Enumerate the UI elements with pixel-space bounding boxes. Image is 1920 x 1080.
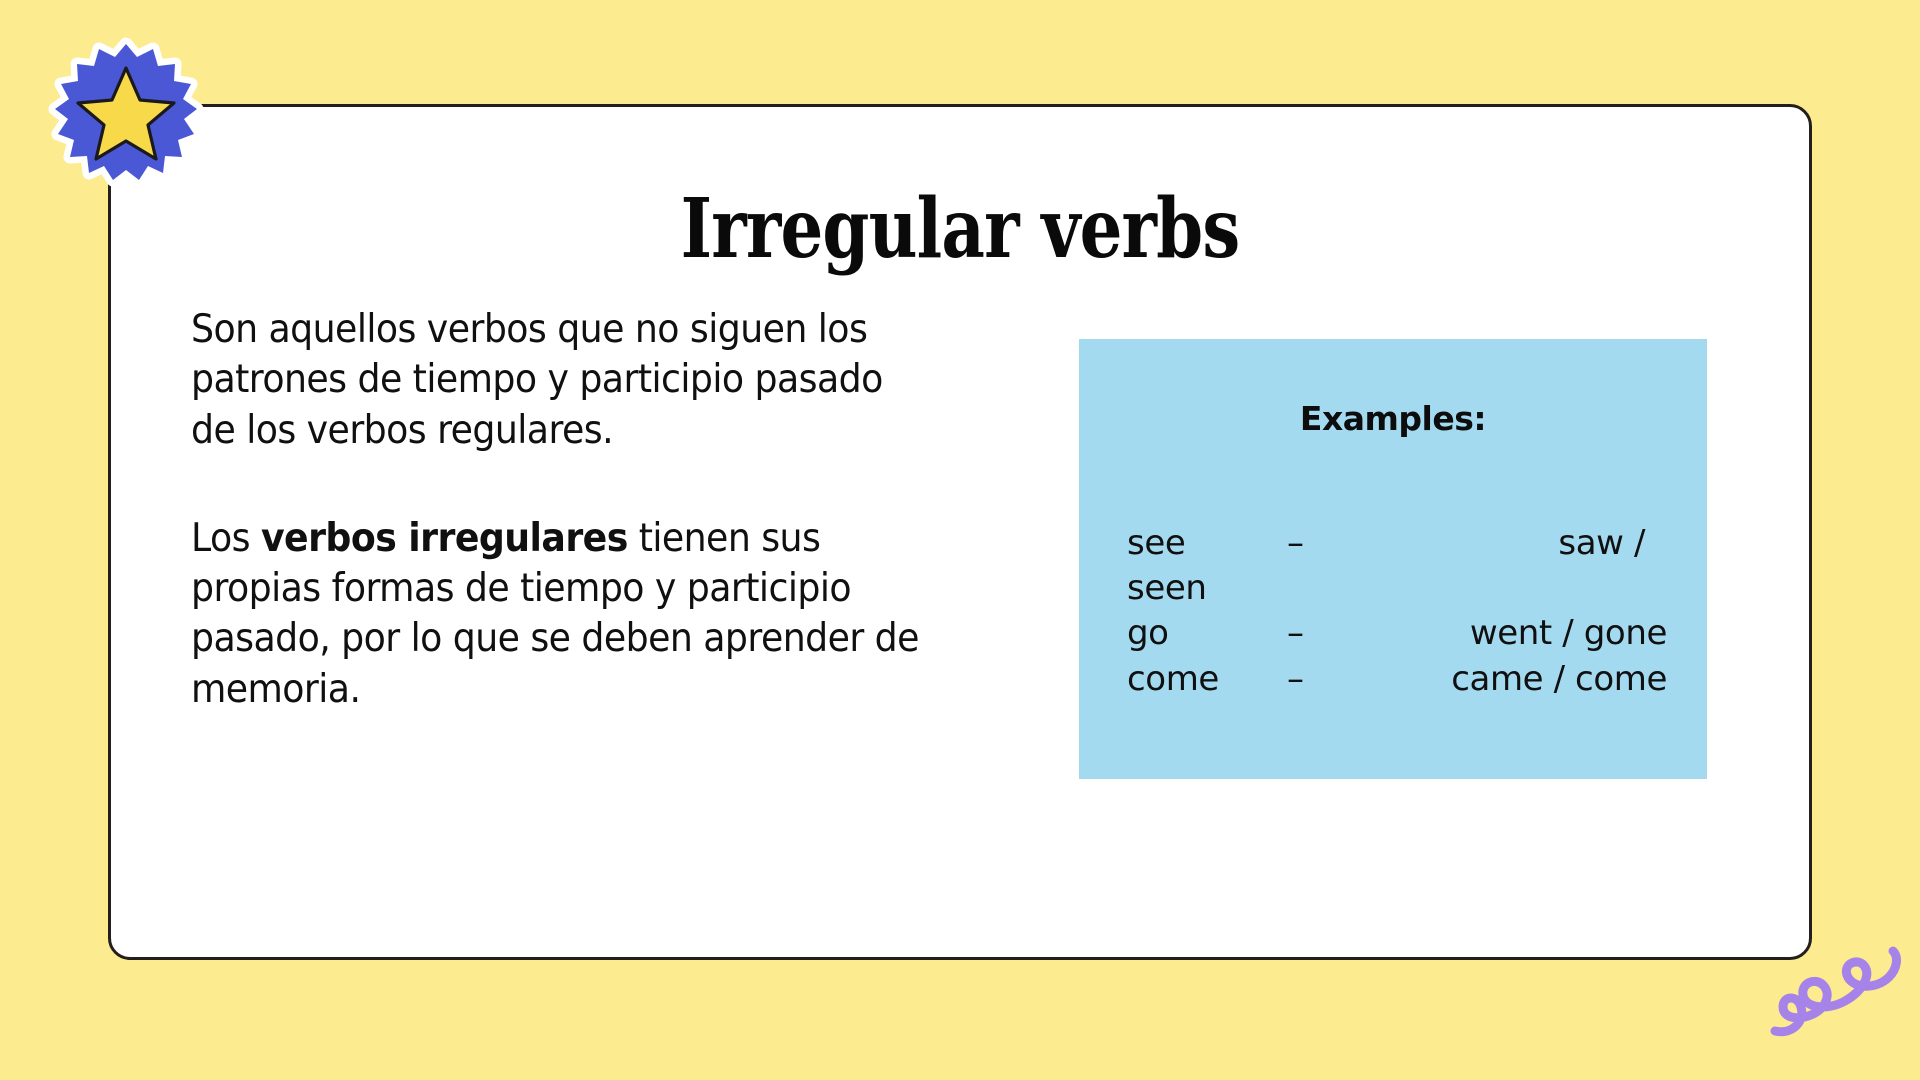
examples-verb-list: see – saw / seen go – went / gone come –… bbox=[1127, 521, 1667, 702]
body-text-column: Son aquellos verbos que no siguen los pa… bbox=[191, 305, 981, 715]
slide-card: Irregular verbs Son aquellos verbos que … bbox=[108, 104, 1812, 960]
emphasis-verbos-irregulares: verbos irregulares bbox=[261, 516, 628, 561]
paragraph-lead-text: Los bbox=[191, 516, 261, 561]
paragraph-definition: Son aquellos verbos que no siguen los pa… bbox=[191, 305, 926, 456]
verb-separator: – bbox=[1287, 521, 1407, 566]
list-item: see – saw / seen bbox=[1127, 521, 1667, 611]
verb-past-forms: went / gone bbox=[1407, 611, 1667, 656]
verb-past-forms-wrapped: seen bbox=[1127, 566, 1667, 611]
verb-past-forms: saw / bbox=[1407, 521, 1667, 566]
paragraph-explanation: Los verbos irregulares tienen sus propia… bbox=[191, 514, 926, 715]
verb-base-form: go bbox=[1127, 611, 1287, 656]
verb-separator: – bbox=[1287, 657, 1407, 702]
verb-base-form: come bbox=[1127, 657, 1287, 702]
star-badge-icon bbox=[56, 42, 196, 182]
page-title: Irregular verbs bbox=[264, 182, 1656, 276]
examples-heading: Examples: bbox=[1079, 399, 1707, 438]
squiggle-doodle-icon bbox=[1771, 925, 1901, 1035]
verb-past-forms: came / come bbox=[1407, 657, 1667, 702]
verb-separator: – bbox=[1287, 611, 1407, 656]
verb-base-form: see bbox=[1127, 521, 1287, 566]
examples-box: Examples: see – saw / seen go – went / g… bbox=[1079, 339, 1707, 779]
list-item: go – went / gone bbox=[1127, 611, 1667, 656]
list-item: come – came / come bbox=[1127, 657, 1667, 702]
